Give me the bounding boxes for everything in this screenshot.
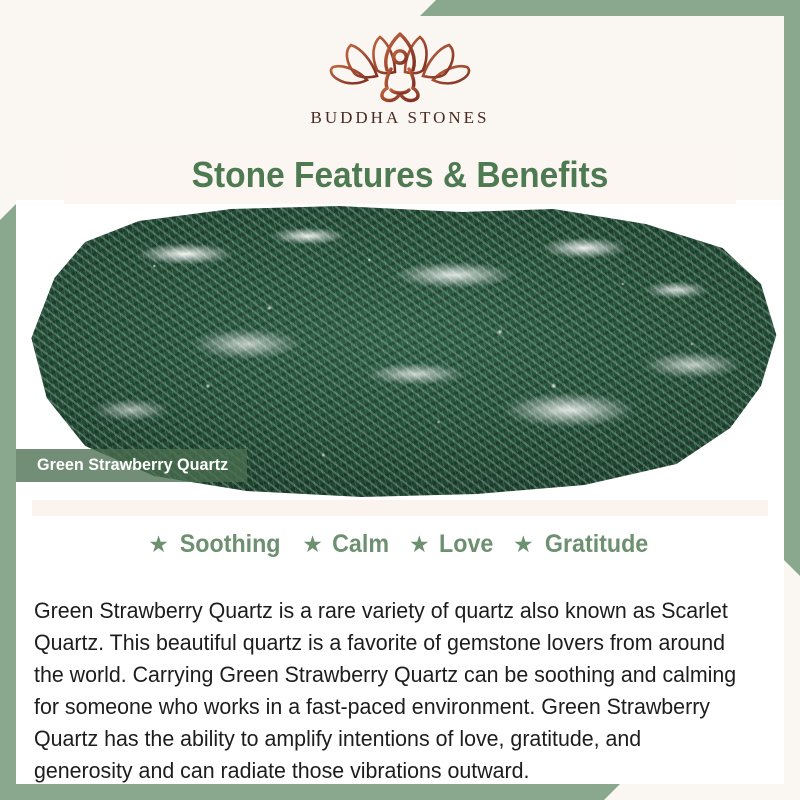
photo-caption-label: Green Strawberry Quartz	[37, 455, 228, 475]
page-title: Stone Features & Benefits	[192, 154, 609, 196]
feature-label-soothing: Soothing	[180, 530, 281, 559]
poster-card: BUDDHA STONES Stone Features & Benefits …	[16, 16, 784, 784]
content-top-tint	[32, 500, 768, 516]
star-icon: ★	[409, 533, 430, 556]
stone-description: Green Strawberry Quartz is a rare variet…	[34, 595, 737, 788]
photo-caption: Green Strawberry Quartz	[16, 449, 247, 482]
content-section: ★ Soothing ★ Calm ★ Love ★ Gratitude Gre…	[16, 500, 784, 784]
frame-band-left	[0, 204, 16, 784]
stone-photo: Green Strawberry Quartz	[16, 200, 784, 500]
frame-band-bottom	[0, 784, 620, 800]
feature-label-love: Love	[439, 530, 493, 559]
frame-band-top	[420, 0, 800, 16]
feature-item-gratitude: ★ Gratitude	[504, 530, 661, 559]
feature-item-calm: ★ Calm	[293, 530, 400, 559]
star-icon: ★	[302, 533, 323, 556]
star-icon: ★	[513, 533, 534, 556]
stone-features-poster: BUDDHA STONES Stone Features & Benefits …	[0, 0, 800, 800]
feature-label-calm: Calm	[332, 530, 389, 559]
feature-label-gratitude: Gratitude	[544, 530, 647, 559]
feature-item-soothing: ★ Soothing	[139, 530, 293, 559]
lotus-meditation-icon	[325, 26, 475, 106]
frame-band-right	[784, 0, 800, 576]
feature-list: ★ Soothing ★ Calm ★ Love ★ Gratitude	[16, 530, 784, 559]
brand-header: BUDDHA STONES	[16, 16, 784, 146]
star-icon: ★	[148, 533, 169, 556]
title-band: Stone Features & Benefits	[64, 146, 736, 204]
brand-name: BUDDHA STONES	[311, 108, 490, 128]
feature-item-love: ★ Love	[400, 530, 504, 559]
